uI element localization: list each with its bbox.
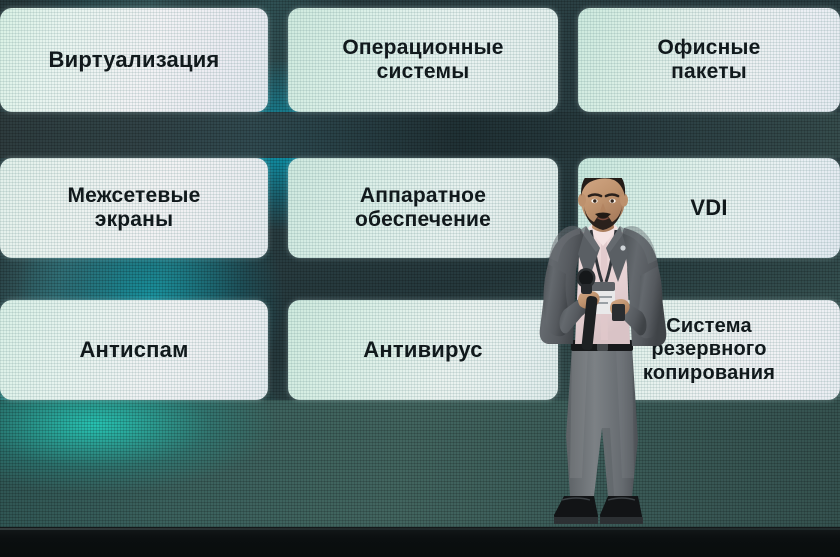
card-label-line1: Офисные (658, 36, 761, 59)
card-operating-systems: Операционные системы (288, 8, 558, 112)
card-office-suites: Офисные пакеты (578, 8, 840, 112)
card-label-line2: экраны (95, 208, 173, 231)
card-label-line1: Межсетевые (67, 184, 200, 207)
card-label-line2: обеспечение (355, 208, 491, 231)
card-label: Виртуализация (39, 47, 230, 73)
presenter-shoes (554, 496, 643, 524)
card-label: Межсетевые экраны (57, 184, 210, 233)
presenter-head (578, 178, 628, 230)
card-label-line1: Аппаратное (360, 184, 486, 207)
presenter-clicker (612, 304, 625, 321)
card-antispam: Антиспам (0, 300, 268, 400)
presenter-figure (528, 178, 678, 527)
card-hardware: Аппаратное обеспечение (288, 158, 558, 258)
card-antivirus: Антивирус (288, 300, 558, 400)
card-label: Операционные системы (332, 36, 513, 85)
card-firewalls: Межсетевые экраны (0, 158, 268, 258)
card-label: Антиспам (69, 337, 198, 363)
card-label-line2: пакеты (671, 60, 747, 83)
stage-floor (0, 527, 840, 557)
stage-scene: Виртуализация Операционные системы Офисн… (0, 0, 840, 557)
card-virtualization: Виртуализация (0, 8, 268, 112)
slide-card-grid: Виртуализация Операционные системы Офисн… (0, 0, 840, 527)
card-label: Офисные пакеты (648, 36, 771, 85)
card-label-line1: Операционные (342, 36, 503, 59)
stage-floor-edge (0, 528, 840, 530)
card-label: Аппаратное обеспечение (345, 184, 501, 233)
card-label: Антивирус (353, 337, 492, 363)
card-label-line1: Система (666, 315, 752, 337)
card-label-line2: системы (377, 60, 470, 83)
lapel-pin-icon (620, 245, 625, 250)
card-label: VDI (680, 195, 737, 221)
presenter-trousers (566, 346, 638, 496)
